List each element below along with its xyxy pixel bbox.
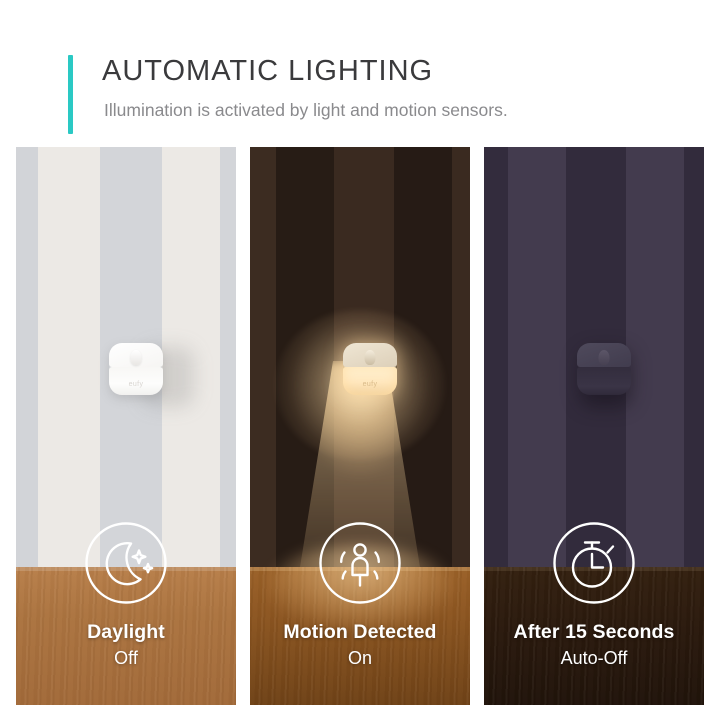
motion-sensor-lens: [131, 350, 142, 365]
wall-auto-off: [484, 147, 704, 567]
status-icon-daylight: [84, 521, 168, 605]
motion-sensor-lens: [599, 350, 610, 365]
wall-daylight: eufy: [16, 147, 236, 567]
motion-sensor-lens: [365, 350, 376, 365]
caption-sub: Auto-Off: [484, 648, 704, 669]
caption-sub: Off: [16, 648, 236, 669]
panel-row: eufy Daylight Off: [16, 147, 704, 705]
page-subtitle: Illumination is activated by light and m…: [104, 100, 508, 121]
caption-sub: On: [250, 648, 470, 669]
caption-main: After 15 Seconds: [484, 621, 704, 644]
panel-after-15-seconds: After 15 Seconds Auto-Off: [484, 147, 704, 705]
caption-daylight: Daylight Off: [16, 621, 236, 669]
panel-daylight: eufy Daylight Off: [16, 147, 236, 705]
caption-main: Daylight: [16, 621, 236, 644]
status-icon-motion: [318, 521, 402, 605]
night-light-device: eufy: [343, 343, 397, 395]
night-light-device: [577, 343, 631, 395]
status-icon-timer: [552, 521, 636, 605]
accent-bar: [68, 55, 73, 134]
panel-motion-detected: eufy Motion Detected On: [250, 147, 470, 705]
caption-main: Motion Detected: [250, 621, 470, 644]
wall-motion: eufy: [250, 147, 470, 567]
device-light-panel: [577, 367, 631, 395]
page-title: AUTOMATIC LIGHTING: [102, 55, 433, 88]
caption-auto-off: After 15 Seconds Auto-Off: [484, 621, 704, 669]
night-light-device: eufy: [109, 343, 163, 395]
brand-logo: eufy: [129, 381, 144, 388]
header: AUTOMATIC LIGHTING Illumination is activ…: [0, 0, 720, 147]
caption-motion: Motion Detected On: [250, 621, 470, 669]
brand-logo: eufy: [363, 381, 378, 388]
